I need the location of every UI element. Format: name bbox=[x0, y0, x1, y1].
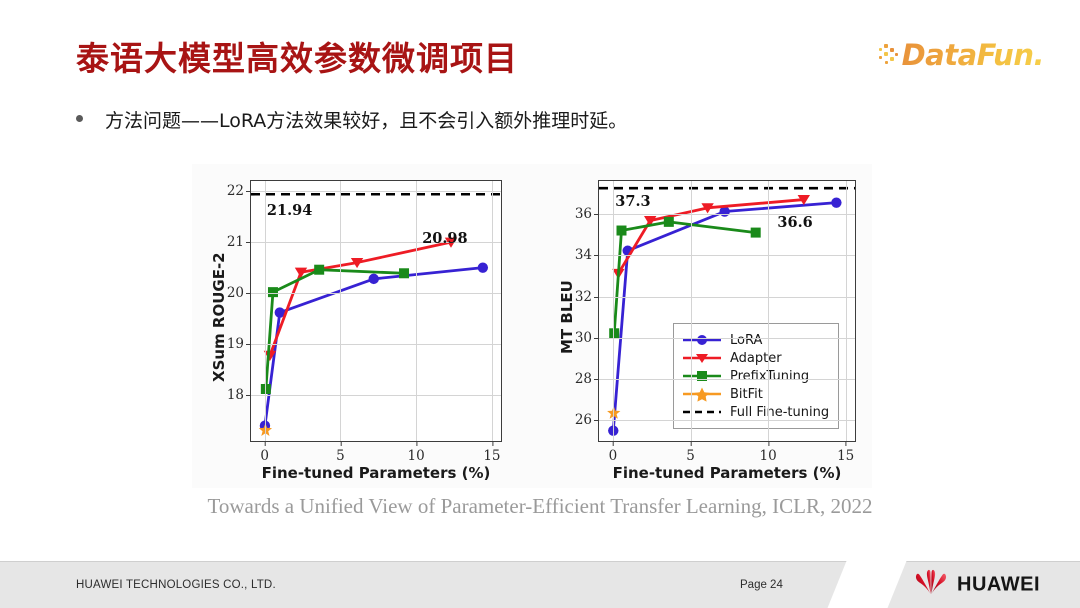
gridline-horizontal bbox=[599, 420, 855, 421]
gridline-horizontal bbox=[251, 395, 501, 396]
x-axis-tick-label: 10 bbox=[408, 441, 425, 464]
legend-item: BitFit bbox=[681, 385, 829, 403]
huawei-wordmark: HUAWEI bbox=[957, 574, 1040, 597]
legend-label-full-finetuning: Full Fine-tuning bbox=[730, 405, 829, 420]
legend-item: Adapter bbox=[681, 349, 829, 367]
y-axis-tick-label: 20 bbox=[227, 285, 251, 301]
data-point-prefixtuning bbox=[314, 265, 324, 275]
gridline-vertical bbox=[265, 181, 266, 441]
figure-caption: Towards a Unified View of Parameter-Effi… bbox=[0, 494, 1080, 519]
y-axis-tick-label: 19 bbox=[227, 336, 251, 352]
legend-label-adapter: Adapter bbox=[730, 351, 782, 366]
legend-key-bitfit-icon bbox=[681, 385, 723, 403]
data-point-lora bbox=[369, 274, 379, 284]
gridline-horizontal bbox=[599, 255, 855, 256]
y-axis-tick-label: 28 bbox=[575, 371, 599, 387]
bullet-dot-icon bbox=[76, 115, 83, 122]
footer-bar: HUAWEI TECHNOLOGIES CO., LTD. Page 24 bbox=[0, 561, 1080, 608]
chart-annotation: 21.94 bbox=[267, 202, 312, 219]
chart-panel-mt: MT BLEU LoRA bbox=[532, 164, 872, 488]
data-point-prefixtuning bbox=[751, 228, 761, 238]
footer-diagonal-divider bbox=[823, 556, 908, 608]
data-point-prefixtuning bbox=[609, 328, 619, 338]
legend-key-full-finetuning-icon bbox=[681, 403, 723, 421]
gridline-horizontal bbox=[599, 338, 855, 339]
figure-container: XSum ROUGE-2 181920212205101521.9420.98 … bbox=[192, 164, 872, 488]
data-point-lora bbox=[478, 262, 488, 272]
chart-xsum-ylabel: XSum ROUGE-2 bbox=[210, 252, 228, 382]
footer-company: HUAWEI TECHNOLOGIES CO., LTD. bbox=[76, 579, 276, 591]
gridline-horizontal bbox=[599, 297, 855, 298]
gridline-vertical bbox=[613, 181, 614, 441]
x-axis-tick-label: 0 bbox=[260, 441, 269, 464]
chart-annotation: 37.3 bbox=[615, 193, 650, 210]
y-axis-tick-label: 36 bbox=[575, 206, 599, 222]
x-axis-tick-label: 15 bbox=[837, 441, 854, 464]
bullet-text: 方法问题——LoRA方法效果较好，且不会引入额外推理时延。 bbox=[105, 106, 627, 133]
bullet-item: 方法问题——LoRA方法效果较好，且不会引入额外推理时延。 bbox=[76, 106, 627, 133]
legend-item: PrefixTuning bbox=[681, 367, 829, 385]
legend-label-lora: LoRA bbox=[730, 333, 762, 348]
gridline-vertical bbox=[340, 181, 341, 441]
x-axis-tick-label: 15 bbox=[483, 441, 500, 464]
chart-xsum-xlabel: Fine-tuned Parameters (%) bbox=[250, 464, 502, 482]
y-axis-tick-label: 21 bbox=[227, 234, 251, 250]
y-axis-tick-label: 22 bbox=[227, 183, 251, 199]
x-axis-tick-label: 10 bbox=[760, 441, 777, 464]
huawei-logo: HUAWEI bbox=[914, 570, 1040, 601]
series-line-lora bbox=[265, 268, 483, 426]
data-point-lora bbox=[831, 197, 841, 207]
legend-key-lora-icon bbox=[681, 331, 723, 349]
series-line-adapter bbox=[618, 200, 803, 274]
legend-item: LoRA bbox=[681, 331, 829, 349]
x-axis-tick-label: 5 bbox=[686, 441, 695, 464]
y-axis-tick-label: 30 bbox=[575, 330, 599, 346]
chart-annotation: 36.6 bbox=[777, 214, 812, 231]
datafun-dots-icon bbox=[879, 43, 901, 67]
y-axis-tick-label: 34 bbox=[575, 247, 599, 263]
gridline-horizontal bbox=[599, 214, 855, 215]
gridline-horizontal bbox=[251, 344, 501, 345]
gridline-vertical bbox=[416, 181, 417, 441]
legend-label-bitfit: BitFit bbox=[730, 387, 763, 402]
datafun-wordmark: DataFun. bbox=[902, 38, 1044, 72]
legend-label-prefixtuning: PrefixTuning bbox=[730, 369, 809, 384]
chart-mt-plot-area: LoRA Adapter bbox=[598, 180, 856, 442]
gridline-vertical bbox=[846, 181, 847, 441]
gridline-vertical bbox=[768, 181, 769, 441]
legend-item: Full Fine-tuning bbox=[681, 403, 829, 421]
chart-series-layer bbox=[251, 181, 501, 441]
slide: 泰语大模型高效参数微调项目 DataFun. 方法问题——LoRA方法效果较好，… bbox=[0, 0, 1080, 608]
data-point-prefixtuning bbox=[616, 226, 626, 236]
gridline-vertical bbox=[492, 181, 493, 441]
data-point-prefixtuning bbox=[268, 287, 278, 297]
chart-xsum-plot-area: 181920212205101521.9420.98 bbox=[250, 180, 502, 442]
datafun-logo: DataFun. bbox=[879, 38, 1044, 72]
x-axis-tick-label: 5 bbox=[336, 441, 345, 464]
chart-mt-xlabel: Fine-tuned Parameters (%) bbox=[598, 464, 856, 482]
gridline-horizontal bbox=[599, 379, 855, 380]
legend-key-prefixtuning-icon bbox=[681, 367, 723, 385]
x-axis-tick-label: 0 bbox=[609, 441, 618, 464]
gridline-horizontal bbox=[251, 293, 501, 294]
data-point-prefixtuning bbox=[664, 217, 674, 227]
gridline-horizontal bbox=[251, 191, 501, 192]
chart-panel-xsum: XSum ROUGE-2 181920212205101521.9420.98 … bbox=[192, 164, 532, 488]
page-number: Page 24 bbox=[740, 579, 783, 591]
chart-annotation: 20.98 bbox=[422, 230, 467, 247]
series-line-prefixtuning bbox=[266, 270, 404, 389]
legend-key-adapter-icon bbox=[681, 349, 723, 367]
chart-legend: LoRA Adapter bbox=[673, 323, 839, 429]
data-point-prefixtuning bbox=[399, 268, 409, 278]
chart-mt-ylabel: MT BLEU bbox=[558, 280, 576, 354]
y-axis-tick-label: 32 bbox=[575, 289, 599, 305]
data-point-prefixtuning bbox=[261, 384, 271, 394]
huawei-flower-icon bbox=[914, 570, 948, 601]
y-axis-tick-label: 18 bbox=[227, 387, 251, 403]
page-title: 泰语大模型高效参数微调项目 bbox=[76, 32, 518, 80]
gridline-vertical bbox=[691, 181, 692, 441]
y-axis-tick-label: 26 bbox=[575, 412, 599, 428]
series-line-prefixtuning bbox=[614, 222, 755, 333]
